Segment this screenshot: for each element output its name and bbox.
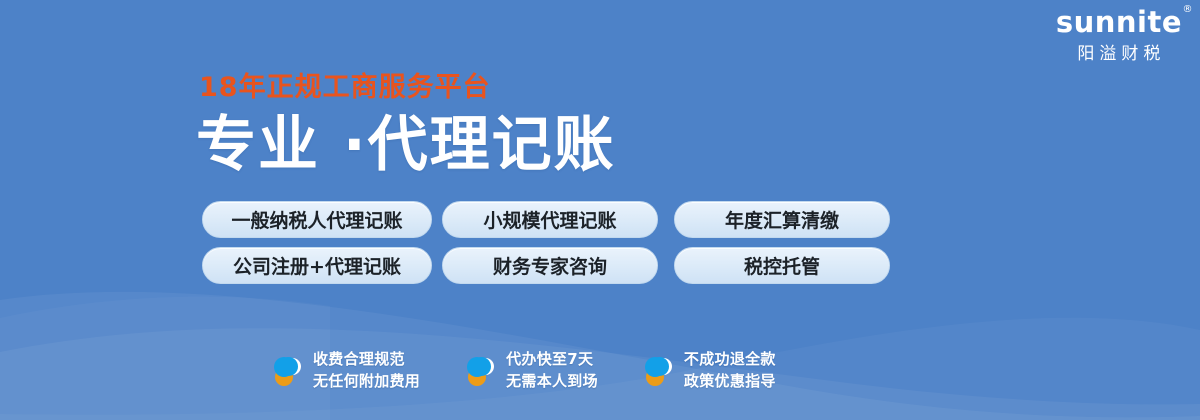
feature-line-1: 不成功退全款 — [684, 349, 776, 371]
logo-wordmark: sunnite® — [1056, 8, 1182, 37]
feature-line-2: 无任何附加费用 — [313, 371, 420, 393]
half-circle-icon — [272, 354, 304, 387]
promo-banner: sunnite® 阳溢财税 18年正规工商服务平台 专业 ·代理记账 一般纳税人… — [0, 0, 1200, 420]
logo-chinese-name: 阳溢财税 — [1056, 46, 1182, 63]
half-circle-icon — [465, 354, 497, 387]
feature-line-2: 无需本人到场 — [506, 371, 598, 393]
feature-item-guarantee: 不成功退全款 政策优惠指导 — [643, 349, 776, 393]
hero-headline: 专业 ·代理记账 — [196, 113, 616, 178]
service-pill-tax-control-hosting[interactable]: 税控托管 — [674, 247, 890, 284]
hero-tagline: 18年正规工商服务平台 — [199, 74, 491, 101]
feature-line-1: 收费合理规范 — [313, 349, 420, 371]
feature-item-pricing: 收费合理规范 无任何附加费用 — [272, 349, 420, 393]
registered-trademark-icon: ® — [1183, 5, 1194, 15]
service-pill-small-scale[interactable]: 小规模代理记账 — [442, 201, 658, 238]
half-circle-icon — [643, 354, 675, 387]
service-pill-company-registration[interactable]: 公司注册+代理记账 — [202, 247, 432, 284]
feature-text-guarantee: 不成功退全款 政策优惠指导 — [684, 349, 776, 393]
feature-line-1: 代办快至7天 — [506, 349, 598, 371]
brand-logo[interactable]: sunnite® 阳溢财税 — [1056, 8, 1182, 63]
feature-strip: 收费合理规范 无任何附加费用 代办快至7天 无需本人到场 — [272, 349, 776, 393]
service-pill-general-taxpayer[interactable]: 一般纳税人代理记账 — [202, 201, 432, 238]
feature-text-pricing: 收费合理规范 无任何附加费用 — [313, 349, 420, 393]
service-pill-annual-settlement[interactable]: 年度汇算清缴 — [674, 201, 890, 238]
service-pill-grid: 一般纳税人代理记账 小规模代理记账 年度汇算清缴 公司注册+代理记账 财务专家咨… — [202, 201, 890, 284]
feature-item-speed: 代办快至7天 无需本人到场 — [465, 349, 598, 393]
service-pill-finance-consulting[interactable]: 财务专家咨询 — [442, 247, 658, 284]
logo-wordmark-text: sunnite — [1056, 5, 1182, 39]
feature-line-2: 政策优惠指导 — [684, 371, 776, 393]
service-pill-row: 公司注册+代理记账 财务专家咨询 税控托管 — [202, 247, 890, 284]
service-pill-row: 一般纳税人代理记账 小规模代理记账 年度汇算清缴 — [202, 201, 890, 238]
feature-text-speed: 代办快至7天 无需本人到场 — [506, 349, 598, 393]
